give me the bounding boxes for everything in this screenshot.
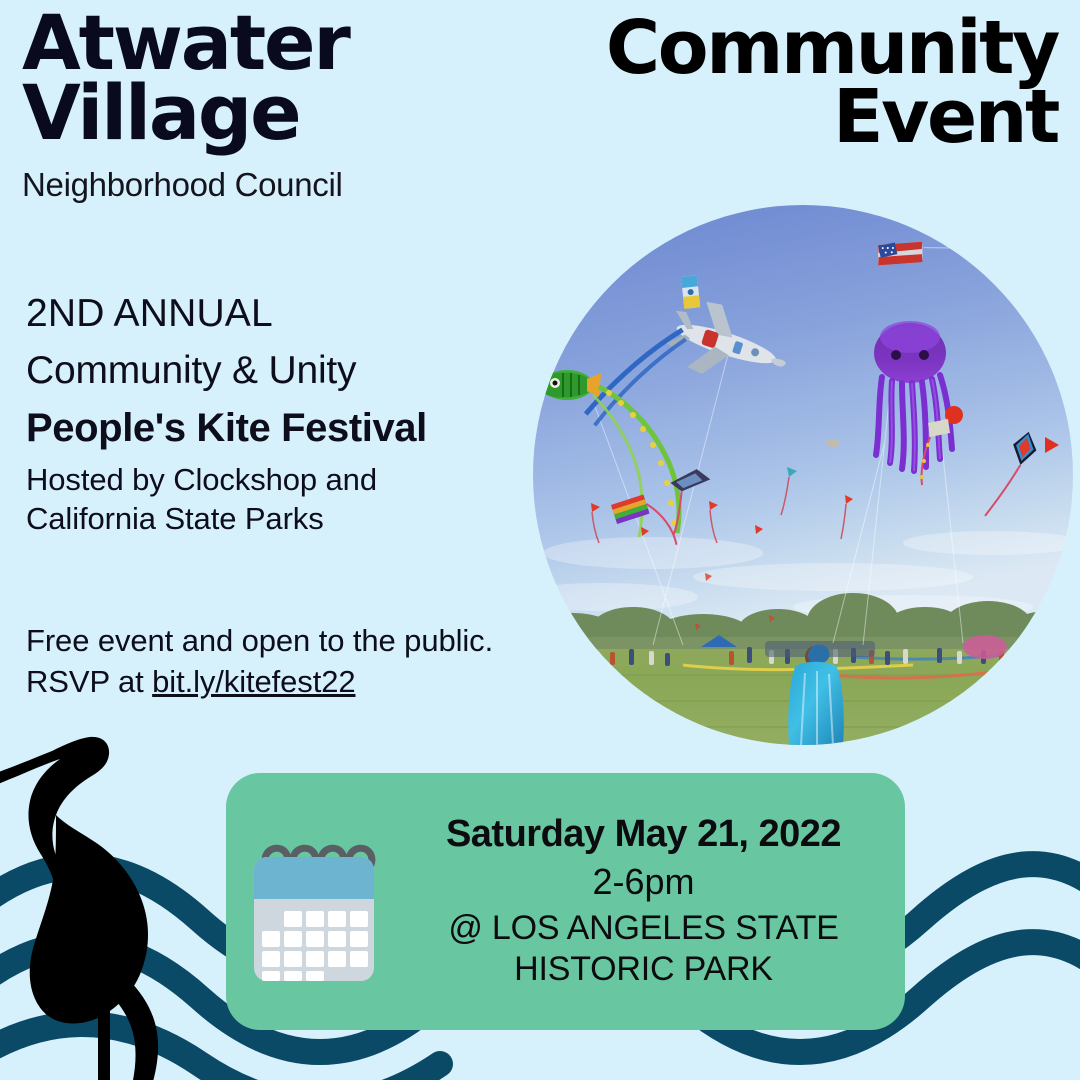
kite-festival-photo	[533, 205, 1073, 745]
photo-illustration	[533, 205, 1073, 745]
rsvp-block: Free event and open to the public. RSVP …	[26, 620, 566, 702]
event-heading-line-2: Event	[538, 83, 1058, 152]
event-heading: Community Event	[538, 14, 1058, 152]
annual-label: 2ND ANNUAL	[26, 292, 546, 336]
rsvp-line: RSVP at bit.ly/kitefest22	[26, 661, 566, 702]
host-line-1: Hosted by Clockshop and	[26, 460, 546, 499]
event-time: 2-6pm	[402, 859, 885, 904]
event-heading-line-1: Community	[538, 14, 1058, 83]
calendar-icon	[248, 837, 380, 985]
logo-line-2: Village	[22, 78, 492, 148]
event-details-banner: Saturday May 21, 2022 2-6pm @ LOS ANGELE…	[226, 773, 905, 1030]
unity-label: Community & Unity	[26, 349, 546, 393]
rsvp-link[interactable]: bit.ly/kitefest22	[152, 664, 355, 699]
event-venue-line-1: @ LOS ANGELES STATE	[402, 908, 885, 949]
event-details-text: Saturday May 21, 2022 2-6pm @ LOS ANGELE…	[402, 813, 905, 990]
organization-logo: Atwater Village Neighborhood Council	[22, 8, 492, 204]
rsvp-free-line: Free event and open to the public.	[26, 620, 566, 661]
logo-subtitle: Neighborhood Council	[22, 166, 492, 204]
festival-title: People's Kite Festival	[26, 406, 546, 450]
host-line-2: California State Parks	[26, 499, 546, 538]
event-date: Saturday May 21, 2022	[402, 813, 885, 856]
event-venue-line-2: HISTORIC PARK	[402, 949, 885, 990]
body-copy: 2ND ANNUAL Community & Unity People's Ki…	[26, 292, 546, 538]
calendar-icon-wrap	[226, 819, 402, 985]
poster-canvas: Atwater Village Neighborhood Council Com…	[0, 0, 1080, 1080]
rsvp-prefix: RSVP at	[26, 664, 152, 699]
